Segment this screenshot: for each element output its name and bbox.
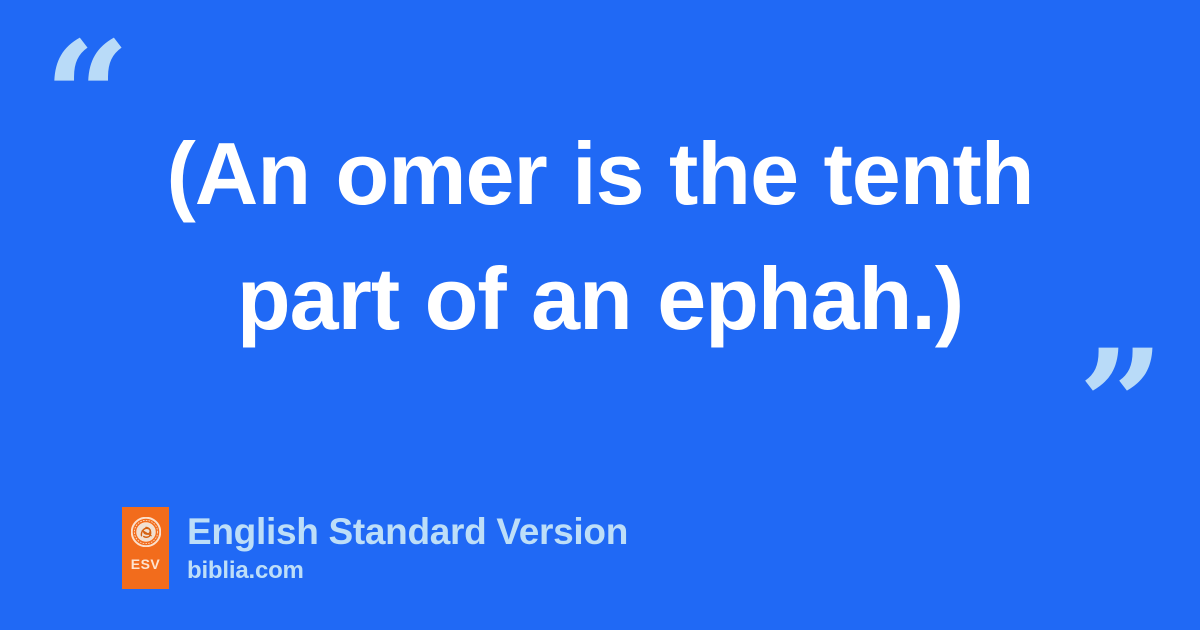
bible-version-name: English Standard Version (187, 512, 628, 552)
attribution-block: ESV English Standard Version biblia.com (122, 507, 628, 589)
esv-seal-icon (131, 517, 161, 547)
esv-logo-badge: ESV (122, 507, 169, 589)
attribution-text-block: English Standard Version biblia.com (187, 507, 628, 584)
quote-text: (An omer is the tenth part of an ephah.) (95, 112, 1105, 362)
site-name-link[interactable]: biblia.com (187, 558, 628, 584)
quote-card: “ (An omer is the tenth part of an ephah… (0, 0, 1200, 630)
esv-badge-label: ESV (131, 557, 161, 571)
closing-quote-icon: ” (1078, 330, 1164, 480)
quote-container: (An omer is the tenth part of an ephah.) (0, 112, 1200, 362)
